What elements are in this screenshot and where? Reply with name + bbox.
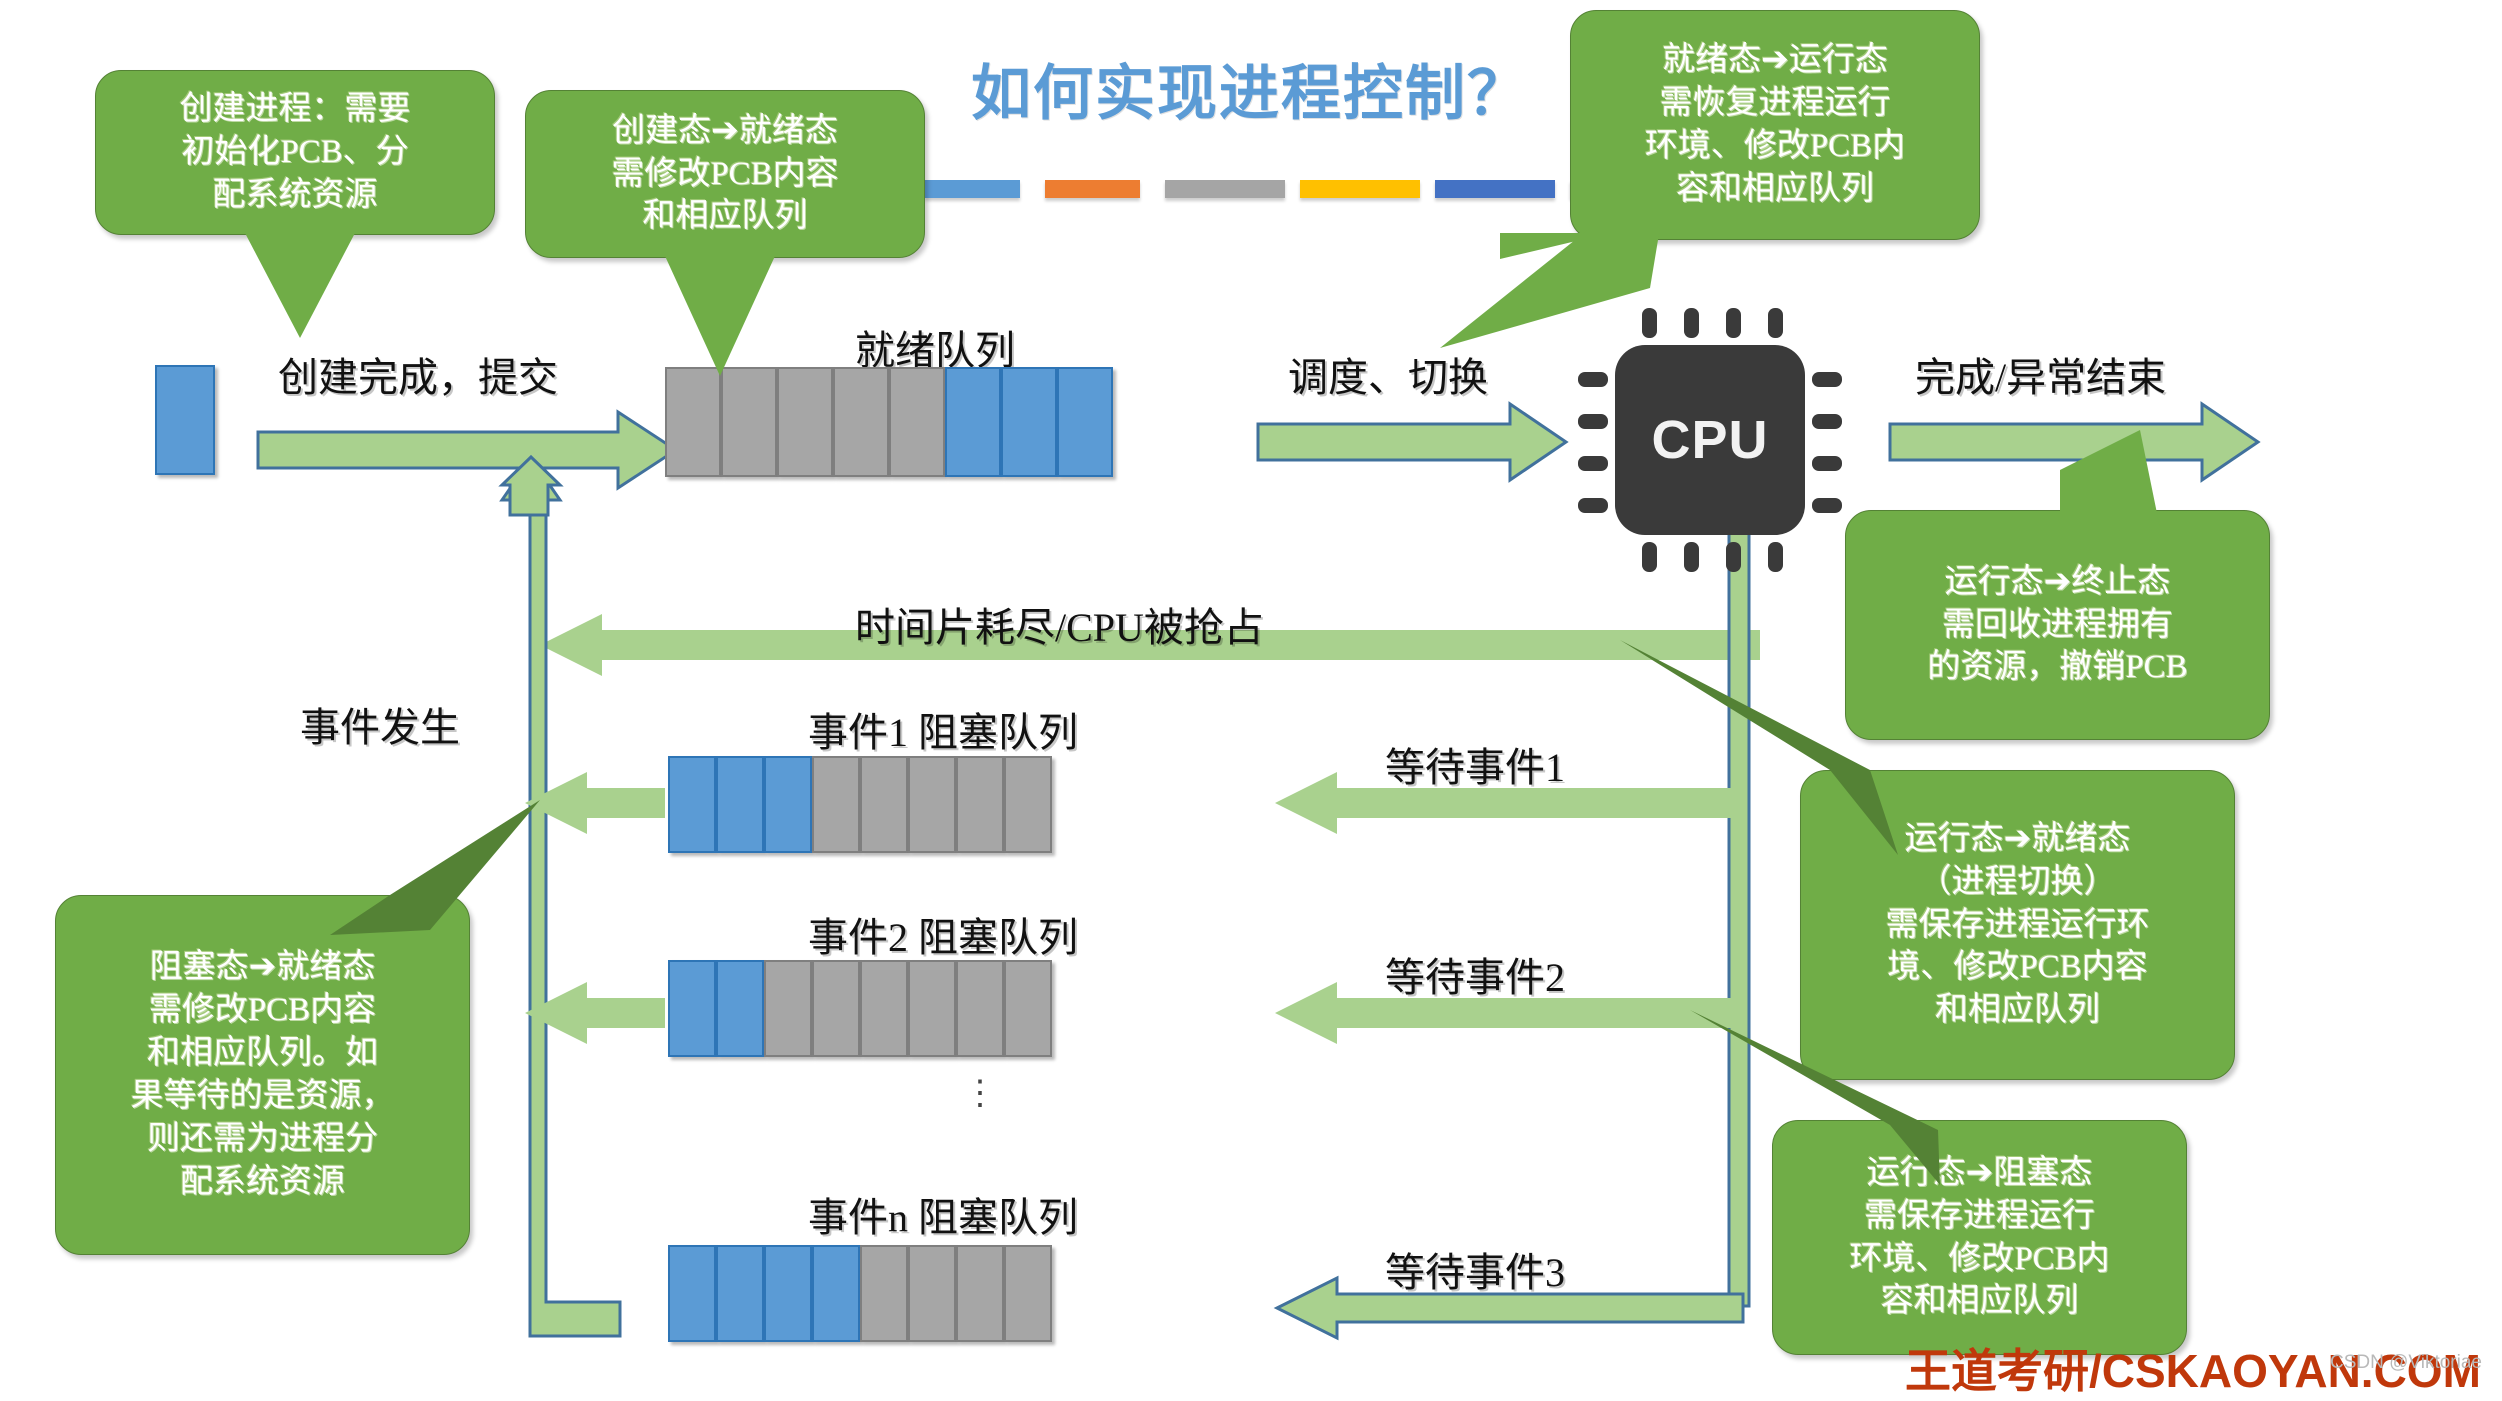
- cpu-pin: [1768, 542, 1783, 572]
- cpu-pin: [1812, 456, 1842, 471]
- callout-tail-running-to-blocked-shape: [1690, 1010, 1950, 1190]
- queue-cell: [812, 756, 860, 853]
- cpu-pin: [1578, 456, 1608, 471]
- queue-ready: [665, 367, 1113, 477]
- callout-blocked-to-ready: 阻塞态➔就绪态 需修改PCB内容 和相应队列。如 果等待的是资源， 则还需为进程…: [55, 895, 470, 1255]
- event2-queue-label: 事件2 阻塞队列: [808, 905, 1078, 963]
- queue-cell: [668, 1245, 716, 1342]
- cpu-pin: [1684, 542, 1699, 572]
- label-wait-event2: 等待事件2: [1385, 945, 1565, 1003]
- queue-cell: [716, 960, 764, 1057]
- queue-cell: [833, 367, 889, 477]
- label-finish-abort: 完成/异常结束: [1915, 345, 2166, 403]
- queue-cell: [812, 960, 860, 1057]
- callout-tail-create-process: [245, 233, 355, 338]
- queue-cell: [716, 756, 764, 853]
- callout-running-to-terminated: 运行态➔终止态 需回收进程拥有 的资源，撤销PCB: [1845, 510, 2270, 740]
- callout-tail-running-to-ready-shape: [1620, 640, 1900, 860]
- callout-tail-running-to-terminated-shape: [2050, 430, 2210, 530]
- cpu-pin: [1578, 498, 1608, 513]
- cpu-pin: [1578, 372, 1608, 387]
- queue-cell: [889, 367, 945, 477]
- cpu-pin: [1578, 414, 1608, 429]
- eventn-queue-label: 事件n 阻塞队列: [808, 1185, 1078, 1243]
- credit-watermark: CSDN @Viktoriae: [2330, 1352, 2482, 1374]
- queue-event1: [668, 756, 1052, 853]
- label-create-done-submit: 创建完成，提交: [278, 345, 558, 403]
- queue-cell: [908, 960, 956, 1057]
- arrow-dispatch-switch: [1258, 402, 1568, 482]
- queue-cell: [716, 1245, 764, 1342]
- queue-cell: [1001, 367, 1057, 477]
- title-bar-segment-3: [1165, 180, 1285, 198]
- queue-cell: [764, 960, 812, 1057]
- queue-cell: [945, 367, 1001, 477]
- callout-create-process: 创建进程：需要 初始化PCB、分 配系统资源: [95, 70, 495, 235]
- queue-cell: [860, 960, 908, 1057]
- callout-tail-ready-to-running-shape: [1440, 228, 1660, 358]
- callout-create-to-ready: 创建态➔就绪态 需修改PCB内容 和相应队列: [525, 90, 925, 258]
- cpu-pin: [1812, 372, 1842, 387]
- cpu-pin: [1812, 414, 1842, 429]
- queue-cell: [721, 367, 777, 477]
- cpu-pin: [1684, 308, 1699, 338]
- cpu-pin: [1812, 498, 1842, 513]
- cpu-pin: [1642, 542, 1657, 572]
- queue-cell: [1004, 960, 1052, 1057]
- vertical-ellipsis: ⋮: [950, 1085, 1010, 1104]
- queue-cell: [1057, 367, 1113, 477]
- event1-queue-label: 事件1 阻塞队列: [808, 700, 1078, 758]
- title-decoration-bar: [925, 180, 1585, 202]
- queue-eventn: [668, 1245, 1052, 1342]
- cpu-pin: [1726, 542, 1741, 572]
- label-event-occurs: 事件发生: [300, 695, 460, 753]
- page-title: 如何实现进程控制？: [930, 45, 1570, 132]
- arrow-submit-feed-stub: [500, 455, 580, 515]
- callout-ready-to-running: 就绪态➔运行态 需恢复进程运行 环境、修改PCB内 容和相应队列: [1570, 10, 1980, 240]
- queue-cell: [764, 1245, 812, 1342]
- queue-cell: [668, 756, 716, 853]
- queue-cell: [155, 365, 215, 475]
- label-wait-event3: 等待事件3: [1385, 1240, 1565, 1298]
- label-wait-event1: 等待事件1: [1385, 735, 1565, 793]
- queue-cell: [764, 756, 812, 853]
- callout-tail-blocked-to-ready-shape: [330, 800, 550, 940]
- cpu-label: CPU: [1615, 345, 1805, 535]
- title-bar-segment-5: [1435, 180, 1555, 198]
- queue-cell: [956, 960, 1004, 1057]
- queue-cell: [956, 1245, 1004, 1342]
- diagram-canvas: 如何实现进程控制？: [0, 0, 2502, 1400]
- queue-cell: [908, 756, 956, 853]
- callout-tail-create-to-ready: [665, 256, 775, 376]
- queue-event2: [668, 960, 1052, 1057]
- queue-cell: [665, 367, 721, 477]
- cpu-pin: [1726, 308, 1741, 338]
- queue-cell: [860, 756, 908, 853]
- queue-cell: [812, 1245, 860, 1342]
- queue-cell: [777, 367, 833, 477]
- queue-cell: [860, 1245, 908, 1342]
- cpu-pin: [1768, 308, 1783, 338]
- title-bar-segment-1: [925, 180, 1020, 198]
- queue-cell: [668, 960, 716, 1057]
- arrow-event2-release: [525, 980, 665, 1046]
- queue-cell: [908, 1245, 956, 1342]
- queue-cell: [956, 756, 1004, 853]
- title-bar-segment-2: [1045, 180, 1140, 198]
- title-bar-segment-4: [1300, 180, 1420, 198]
- queue-cell: [1004, 756, 1052, 853]
- queue-new-process: [155, 365, 215, 475]
- queue-cell: [1004, 1245, 1052, 1342]
- label-timeslice-preempt: 时间片耗尽/CPU被抢占: [855, 595, 1264, 653]
